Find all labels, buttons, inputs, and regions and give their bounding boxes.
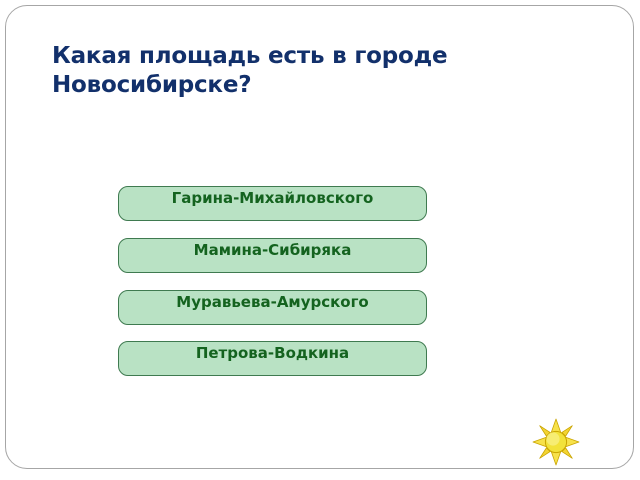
answer-option-3[interactable]: Муравьева-Амурского (118, 290, 427, 325)
page-title: Какая площадь есть в городе Новосибирске… (52, 42, 582, 100)
answer-option-2[interactable]: Мамина-Сибиряка (118, 238, 427, 273)
slide: Какая площадь есть в городе Новосибирске… (0, 0, 640, 480)
answer-option-4[interactable]: Петрова-Водкина (118, 341, 427, 376)
sun-icon[interactable] (532, 418, 580, 466)
answer-option-4-label: Петрова-Водкина (119, 344, 426, 363)
answer-option-2-label: Мамина-Сибиряка (119, 241, 426, 260)
answer-options-list: Гарина-Михайловского Мамина-Сибиряка Мур… (118, 186, 429, 386)
answer-option-1-label: Гарина-Михайловского (119, 189, 426, 208)
answer-option-1[interactable]: Гарина-Михайловского (118, 186, 427, 221)
answer-option-3-label: Муравьева-Амурского (119, 293, 426, 312)
